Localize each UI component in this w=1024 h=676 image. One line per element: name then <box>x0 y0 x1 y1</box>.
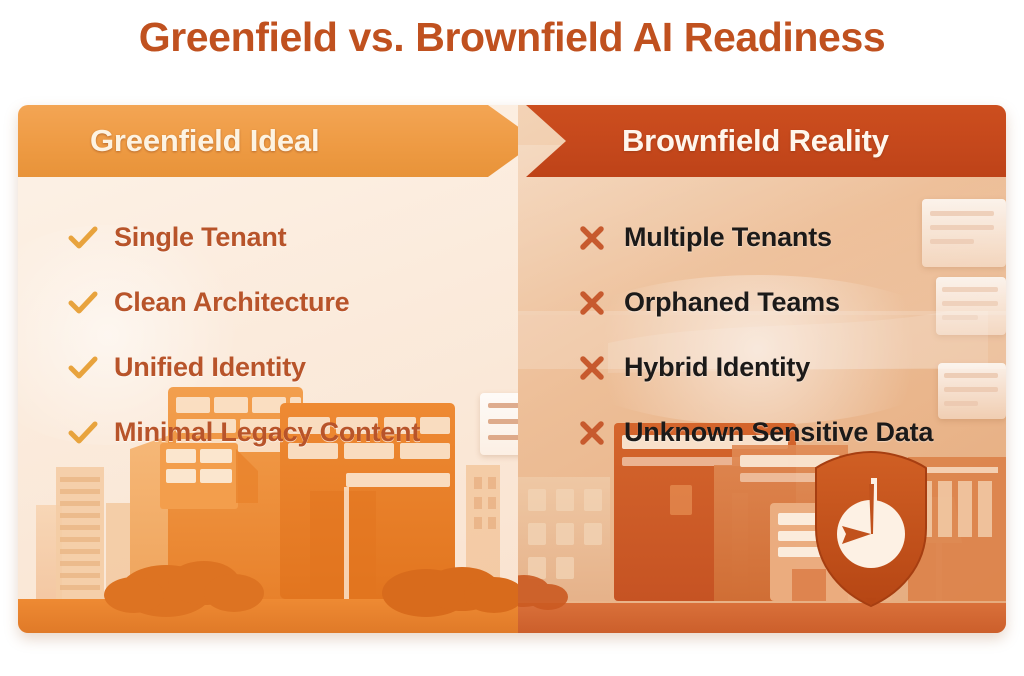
list-item[interactable]: Orphaned Teams <box>578 270 933 335</box>
greenfield-ground <box>18 599 518 633</box>
list-item-label: Multiple Tenants <box>624 222 832 253</box>
check-icon <box>68 290 114 316</box>
list-item-label: Clean Architecture <box>114 287 349 318</box>
cross-icon <box>578 354 624 382</box>
ghost-document-widget-left <box>480 393 518 455</box>
list-item-label: Minimal Legacy Content <box>114 417 420 448</box>
cross-icon <box>578 224 624 252</box>
greenfield-list: Single Tenant Clean Architecture Unified… <box>68 205 420 465</box>
list-item[interactable]: Unknown Sensitive Data <box>578 400 933 465</box>
list-item-label: Hybrid Identity <box>624 352 810 383</box>
ghost-panel-lower-right <box>938 363 1006 419</box>
list-item[interactable]: Minimal Legacy Content <box>68 400 420 465</box>
list-item[interactable]: Unified Identity <box>68 335 420 400</box>
greenfield-panel: Greenfield Ideal Single Tenant Clean Arc… <box>18 105 518 633</box>
list-item[interactable]: Multiple Tenants <box>578 205 933 270</box>
check-icon <box>68 420 114 446</box>
check-icon <box>68 225 114 251</box>
brownfield-banner: Brownfield Reality <box>504 105 1006 177</box>
page-title: Greenfield vs. Brownfield AI Readiness <box>0 14 1024 61</box>
list-item-label: Unknown Sensitive Data <box>624 417 933 448</box>
cross-icon <box>578 289 624 317</box>
ghost-panel-mid-right <box>936 277 1006 335</box>
ghost-panel-top-right <box>922 199 1006 267</box>
list-item-label: Unified Identity <box>114 352 306 383</box>
check-icon <box>68 355 114 381</box>
comparison-card: Greenfield Ideal Single Tenant Clean Arc… <box>18 105 1006 633</box>
list-item-label: Orphaned Teams <box>624 287 840 318</box>
list-item-label: Single Tenant <box>114 222 286 253</box>
brownfield-list: Multiple Tenants Orphaned Teams Hybrid I… <box>578 205 933 465</box>
greenfield-banner-label: Greenfield Ideal <box>90 123 319 159</box>
greenfield-banner: Greenfield Ideal <box>18 105 518 177</box>
list-item[interactable]: Hybrid Identity <box>578 335 933 400</box>
cross-icon <box>578 419 624 447</box>
brownfield-panel: Multiple Tenants Orphaned Teams Hybrid I… <box>518 105 1006 633</box>
brownfield-banner-label: Brownfield Reality <box>622 123 889 159</box>
list-item[interactable]: Clean Architecture <box>68 270 420 335</box>
list-item[interactable]: Single Tenant <box>68 205 420 270</box>
shield-clock-icon <box>808 448 934 615</box>
